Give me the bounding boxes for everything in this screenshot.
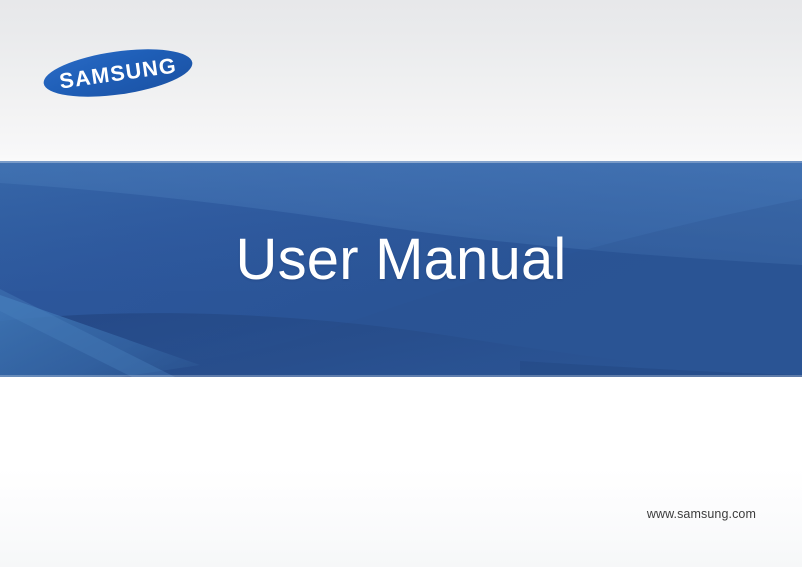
samsung-logo: SAMSUNG <box>42 49 194 97</box>
website-label: www.samsung.com <box>647 507 756 521</box>
page-title: User Manual <box>0 222 802 298</box>
banner-top-hairline <box>0 161 802 163</box>
manual-cover-page: SAMSUNG <box>0 0 802 567</box>
lower-white-area <box>0 377 802 567</box>
banner-bottom-hairline <box>0 375 802 377</box>
